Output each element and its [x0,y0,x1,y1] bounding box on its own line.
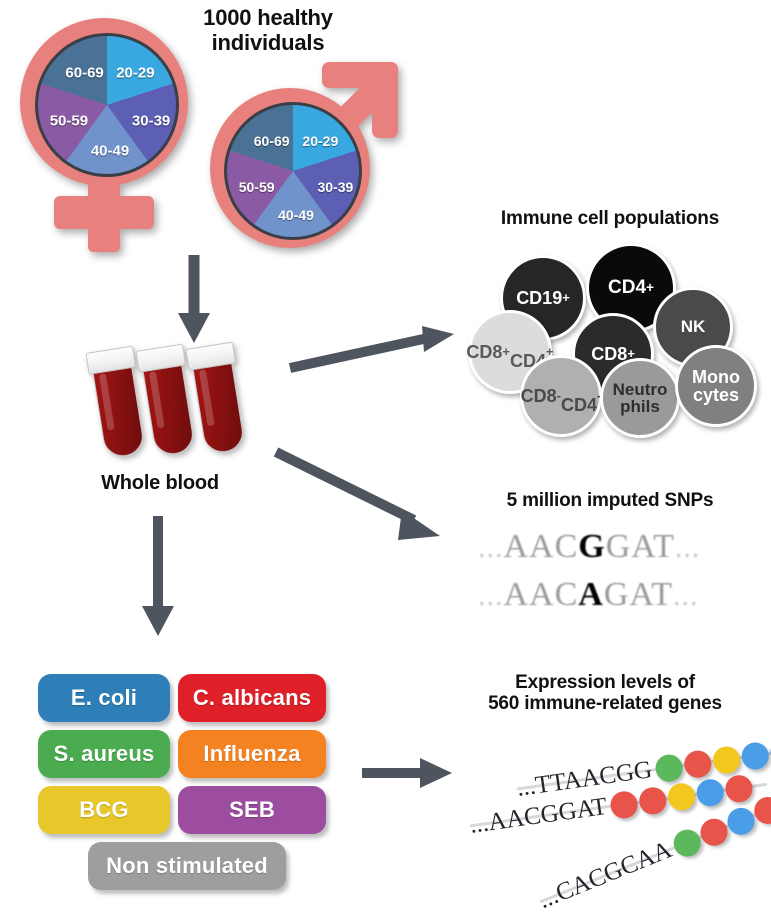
strand-bead [666,781,696,811]
strand-bead [711,744,741,774]
strand-bead [654,752,684,782]
strand-bead [740,740,770,770]
strand-bead [695,777,725,807]
strand-sequence-text: ...CACGCAA [535,836,676,915]
strand-bead [683,748,713,778]
study-design-diagram: 1000 healthy individuals Immune cell pop… [0,0,771,922]
strand-bead [724,773,754,803]
strand-bead [609,789,639,819]
strand-bead [638,785,668,815]
expression-strand-group: ...TTAACGG...AACGGAT...CACGCAA [0,0,771,922]
